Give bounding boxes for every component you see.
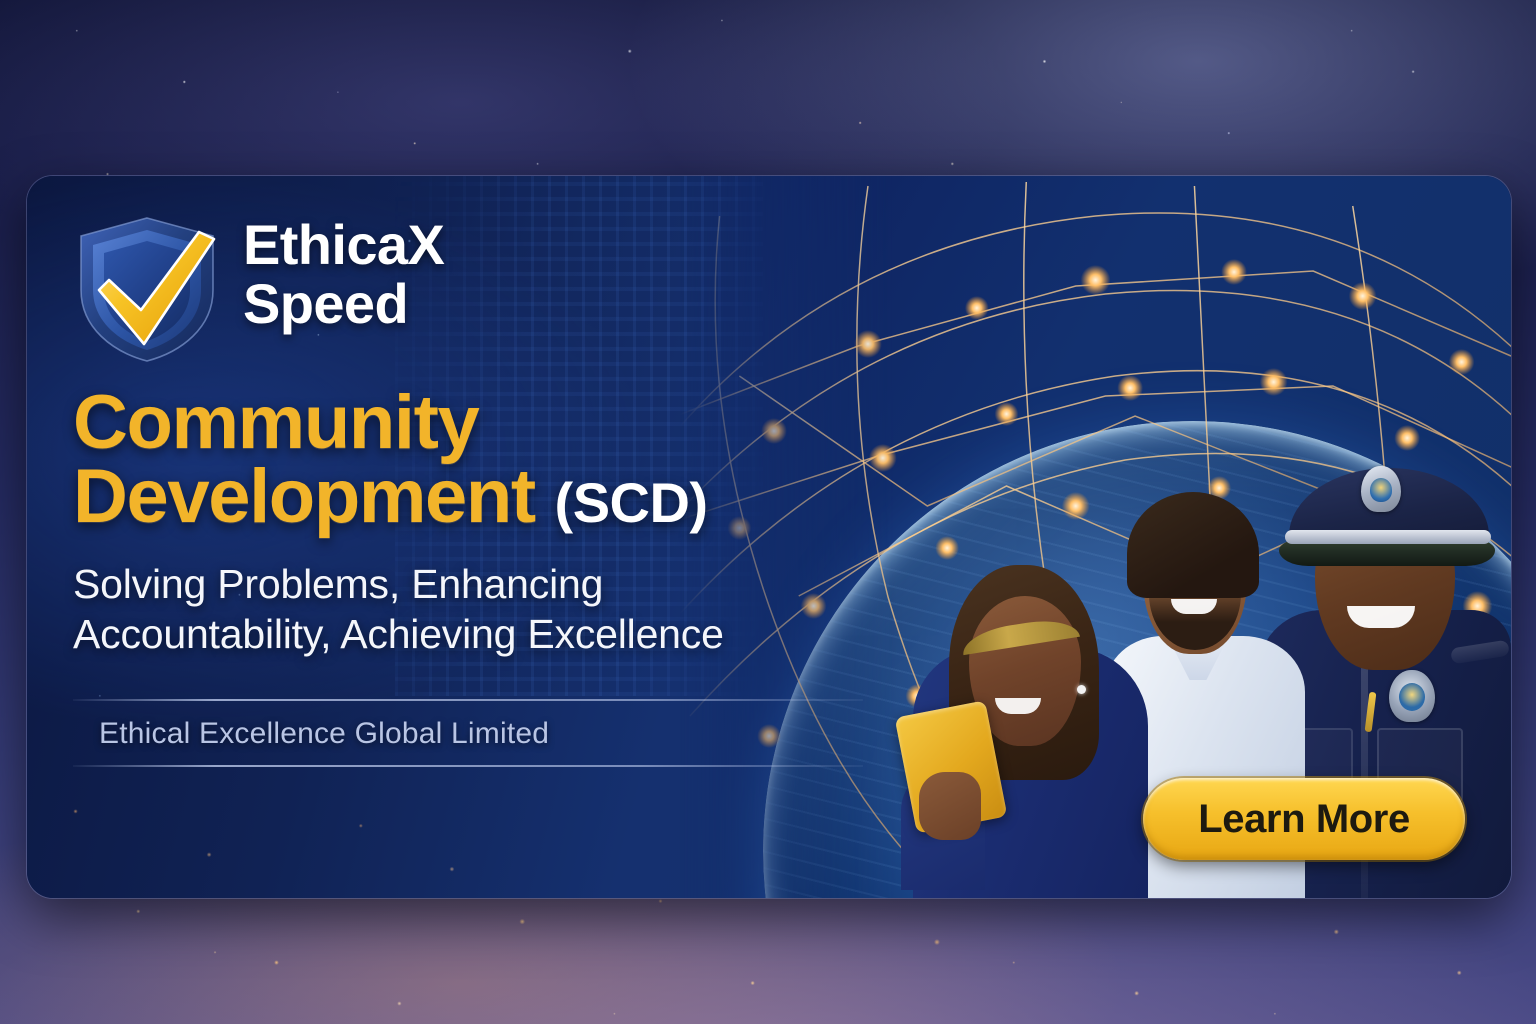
brand-lockup: EthicaX Speed <box>73 212 873 364</box>
police-cap-badge-center <box>1370 478 1392 502</box>
company-name: Ethical Excellence Global Limited <box>73 701 863 765</box>
headline-abbreviation: (SCD) <box>555 471 708 534</box>
banner-content: EthicaX Speed Community Development (SCD… <box>73 212 873 767</box>
woman-earring <box>1077 685 1086 694</box>
banner-stage: EthicaX Speed Community Development (SCD… <box>0 0 1536 1024</box>
brand-name: EthicaX Speed <box>243 212 444 332</box>
page-title: Community Development (SCD) <box>73 386 873 533</box>
divider-bottom <box>73 765 863 767</box>
tagline-line-2: Accountability, Achieving Excellence <box>73 611 724 657</box>
promo-banner-card: EthicaX Speed Community Development (SCD… <box>27 176 1511 898</box>
officer-chest-badge-center <box>1399 683 1425 711</box>
woman-hand <box>919 772 981 840</box>
footer-block: Ethical Excellence Global Limited <box>73 699 863 767</box>
headline-line-1: Community <box>73 380 478 465</box>
brand-name-line-1: EthicaX <box>243 218 444 273</box>
officer-shirt-placket <box>1361 648 1368 898</box>
police-cap-band <box>1285 530 1491 544</box>
tagline: Solving Problems, Enhancing Accountabili… <box>73 559 833 659</box>
learn-more-button[interactable]: Learn More <box>1143 778 1465 860</box>
man-hair <box>1127 492 1259 598</box>
shield-check-icon <box>73 214 221 364</box>
brand-name-line-2: Speed <box>243 277 444 332</box>
tagline-line-1: Solving Problems, Enhancing <box>73 561 603 607</box>
headline-line-2: Development <box>73 454 535 539</box>
